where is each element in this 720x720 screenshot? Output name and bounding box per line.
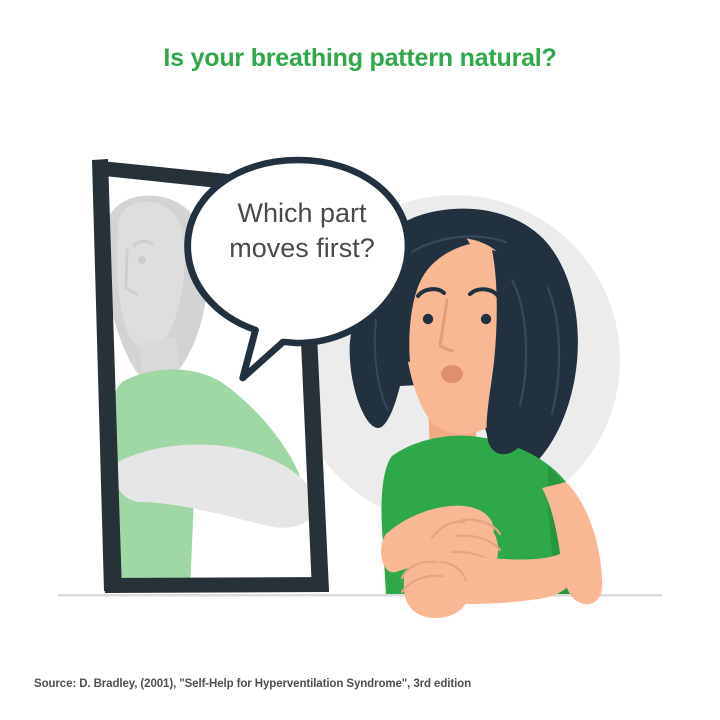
belly-hand — [402, 558, 470, 618]
mouth — [441, 365, 463, 383]
eye-right — [481, 314, 491, 324]
eye-left — [423, 314, 433, 324]
source-citation: Source: D. Bradley, (2001), "Self-Help f… — [34, 678, 471, 690]
poster-canvas: Is your breathing pattern natural? — [0, 0, 720, 720]
page-title: Is your breathing pattern natural? — [0, 44, 720, 73]
breathing-illustration — [0, 110, 720, 620]
reflection-eye — [138, 256, 146, 264]
speech-bubble-text: Which part moves first? — [196, 196, 408, 266]
illustration-stage — [0, 110, 720, 620]
mirror-frame-bottom — [104, 577, 329, 593]
